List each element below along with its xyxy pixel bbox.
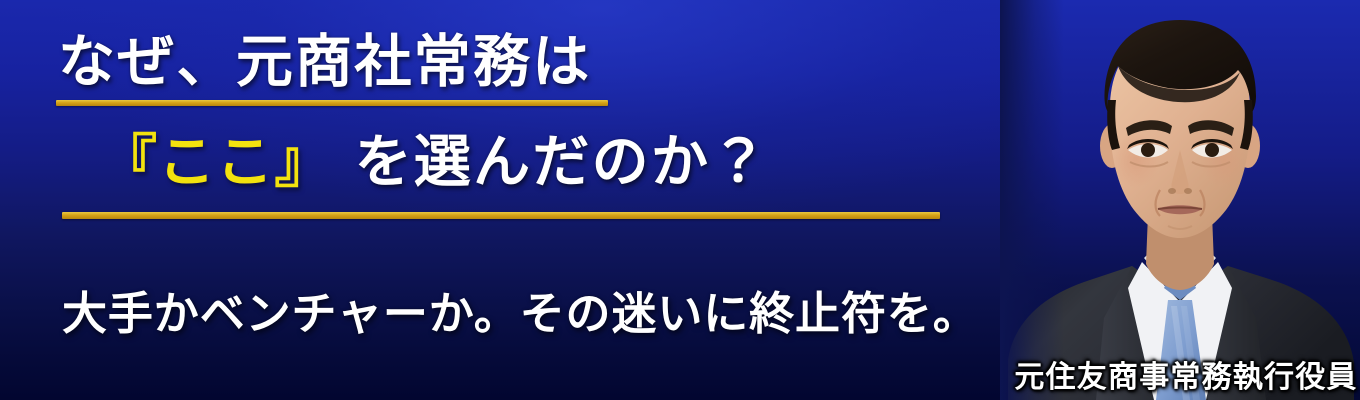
left-nostril — [1168, 188, 1176, 194]
headline-line-2: 『ここ』を選んだのか？ — [100, 128, 770, 196]
headline-highlight-text: 『ここ』 — [100, 129, 333, 195]
promo-banner: なぜ、元商社常務は 『ここ』を選んだのか？ 大手かベンチャーか。その迷いに終止符… — [0, 0, 1360, 400]
left-pupil — [1141, 143, 1155, 157]
portrait-caption: 元住友商事常務執行役員 — [1012, 352, 1360, 396]
right-pupil — [1205, 143, 1219, 157]
headline-underline-2 — [62, 212, 940, 219]
headline-underline-1 — [56, 100, 608, 106]
portrait-illustration — [1000, 0, 1360, 400]
subheadline-text: 大手かベンチャーか。その迷いに終止符を。 — [62, 286, 979, 342]
headline-copy-block: なぜ、元商社常務は 『ここ』を選んだのか？ 大手かベンチャーか。その迷いに終止符… — [0, 0, 1010, 400]
right-nostril — [1184, 188, 1192, 194]
portrait-edge-fade — [1000, 0, 1064, 400]
headline-line-2-rest: を選んだのか？ — [355, 129, 770, 195]
headline-line-1: なぜ、元商社常務は — [58, 28, 592, 96]
portrait-photo — [1000, 0, 1360, 400]
